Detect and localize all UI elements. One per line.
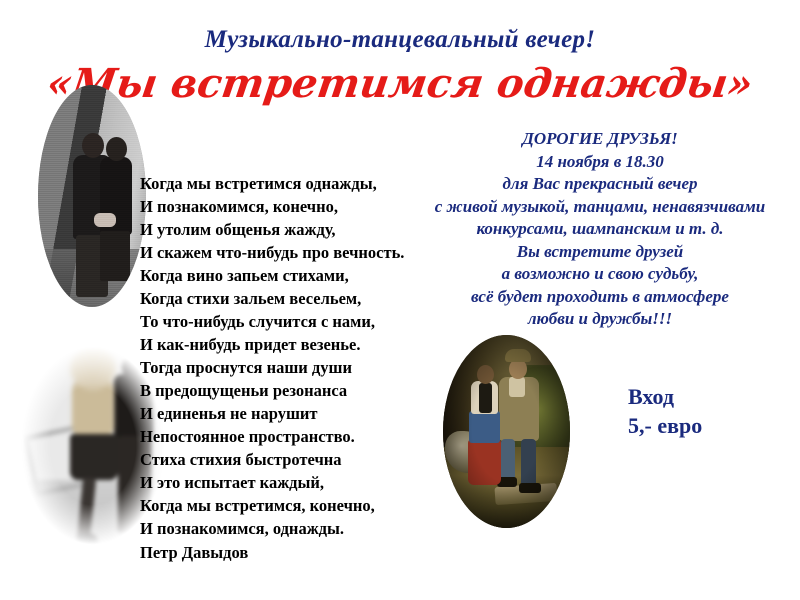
poem-line: Когда мы встретимся однажды, — [140, 172, 430, 195]
invitation-line: а возможно и свою судьбу, — [400, 263, 800, 286]
dance-man-head — [122, 356, 142, 378]
painting-rustic-couple — [443, 335, 570, 528]
invitation-line: 14 ноября в 18.30 — [400, 151, 800, 174]
poem-line: И утолим общенья жажду, — [140, 218, 430, 241]
dance-woman-skirt — [70, 434, 118, 480]
photo-grain-overlay — [38, 85, 146, 307]
invitation-block: ДОРОГИЕ ДРУЗЬЯ! 14 ноября в 18.30 для Ва… — [400, 128, 800, 331]
invitation-line: ДОРОГИЕ ДРУЗЬЯ! — [400, 128, 800, 151]
invitation-line: любви и дружбы!!! — [400, 308, 800, 331]
poem-author: Петр Давыдов — [140, 540, 430, 564]
poem-line: И как-нибудь придет везенье. — [140, 333, 430, 356]
poem-block: Когда мы встретимся однажды, И познакоми… — [140, 172, 430, 564]
invitation-line: с живой музыкой, танцами, ненавязчивами — [400, 196, 800, 219]
poem-line: Когда мы встретимся, конечно, — [140, 494, 430, 517]
poem-line: Стиха стихия быстротечна — [140, 448, 430, 471]
poem-line: И познакомимся, однажды. — [140, 517, 430, 540]
poem-line: Непостоянное пространство. — [140, 425, 430, 448]
invitation-line: для Вас прекрасный вечер — [400, 173, 800, 196]
painting-vignette — [443, 335, 570, 528]
entrance-label: Вход — [628, 382, 702, 411]
dance-woman-shoe — [76, 534, 98, 548]
poem-line: И скажем что-нибудь про вечность. — [140, 241, 430, 264]
poem-line: Когда стихи зальем весельем, — [140, 287, 430, 310]
poem-line: В предощущеньи резонанса — [140, 379, 430, 402]
headline-primary: Музыкально-танцевальный вечер! — [0, 26, 800, 54]
entrance-price: 5,- евро — [628, 411, 702, 440]
poem-line: То что-нибудь случится с нами, — [140, 310, 430, 333]
invitation-line: всё будет проходить в атмосфере — [400, 286, 800, 309]
poem-line: Когда вино запьем стихами, — [140, 264, 430, 287]
invitation-line: конкурсами, шампанским и т. д. — [400, 218, 800, 241]
invitation-line: Вы встретите друзей — [400, 241, 800, 264]
poem-line: И это испытает каждый, — [140, 471, 430, 494]
poem-line: Тогда проснутся наши души — [140, 356, 430, 379]
entrance-block: Вход 5,- евро — [628, 382, 702, 440]
poem-line: И познакомимся, конечно, — [140, 195, 430, 218]
photo-couple-standing — [38, 85, 146, 307]
poster: Музыкально-танцевальный вечер! «Мы встре… — [0, 0, 800, 600]
dance-woman-hair — [70, 344, 116, 390]
poem-line: И единенья не нарушит — [140, 402, 430, 425]
